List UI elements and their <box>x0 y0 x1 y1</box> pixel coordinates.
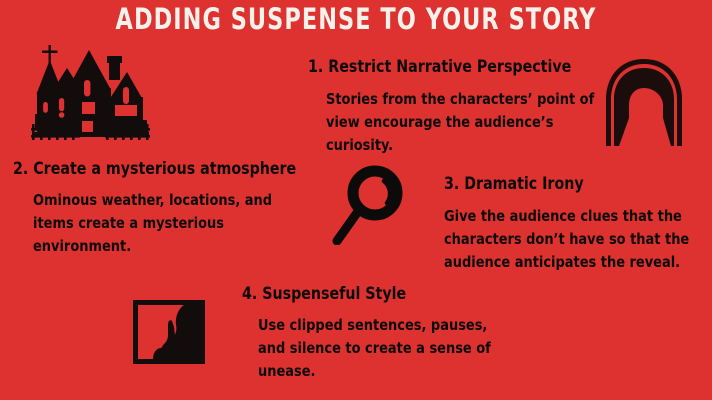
tip-3-heading: 3. Dramatic Irony <box>444 174 584 194</box>
tip-3-body: Give the audience clues that the charact… <box>444 205 704 274</box>
magnifying-glass-icon <box>331 163 407 245</box>
tip-2-body: Ominous weather, locations, and items cr… <box>33 189 303 258</box>
silence-shush-icon <box>132 299 206 365</box>
page-title: Adding Suspense to Your Story <box>50 2 662 36</box>
tip-4-heading: 4. Suspenseful Style <box>242 284 406 304</box>
tip-4-body: Use clipped sentences, pauses, and silen… <box>258 314 500 383</box>
tip-1-body: Stories from the characters’ point of vi… <box>326 88 614 157</box>
suspense-infographic: Adding Suspense to Your Story <box>0 0 712 400</box>
tip-1-heading: 1. Restrict Narrative Perspective <box>308 57 571 77</box>
tip-2-heading: 2. Create a mysterious atmosphere <box>13 159 296 179</box>
haunted-house-icon <box>23 42 155 150</box>
